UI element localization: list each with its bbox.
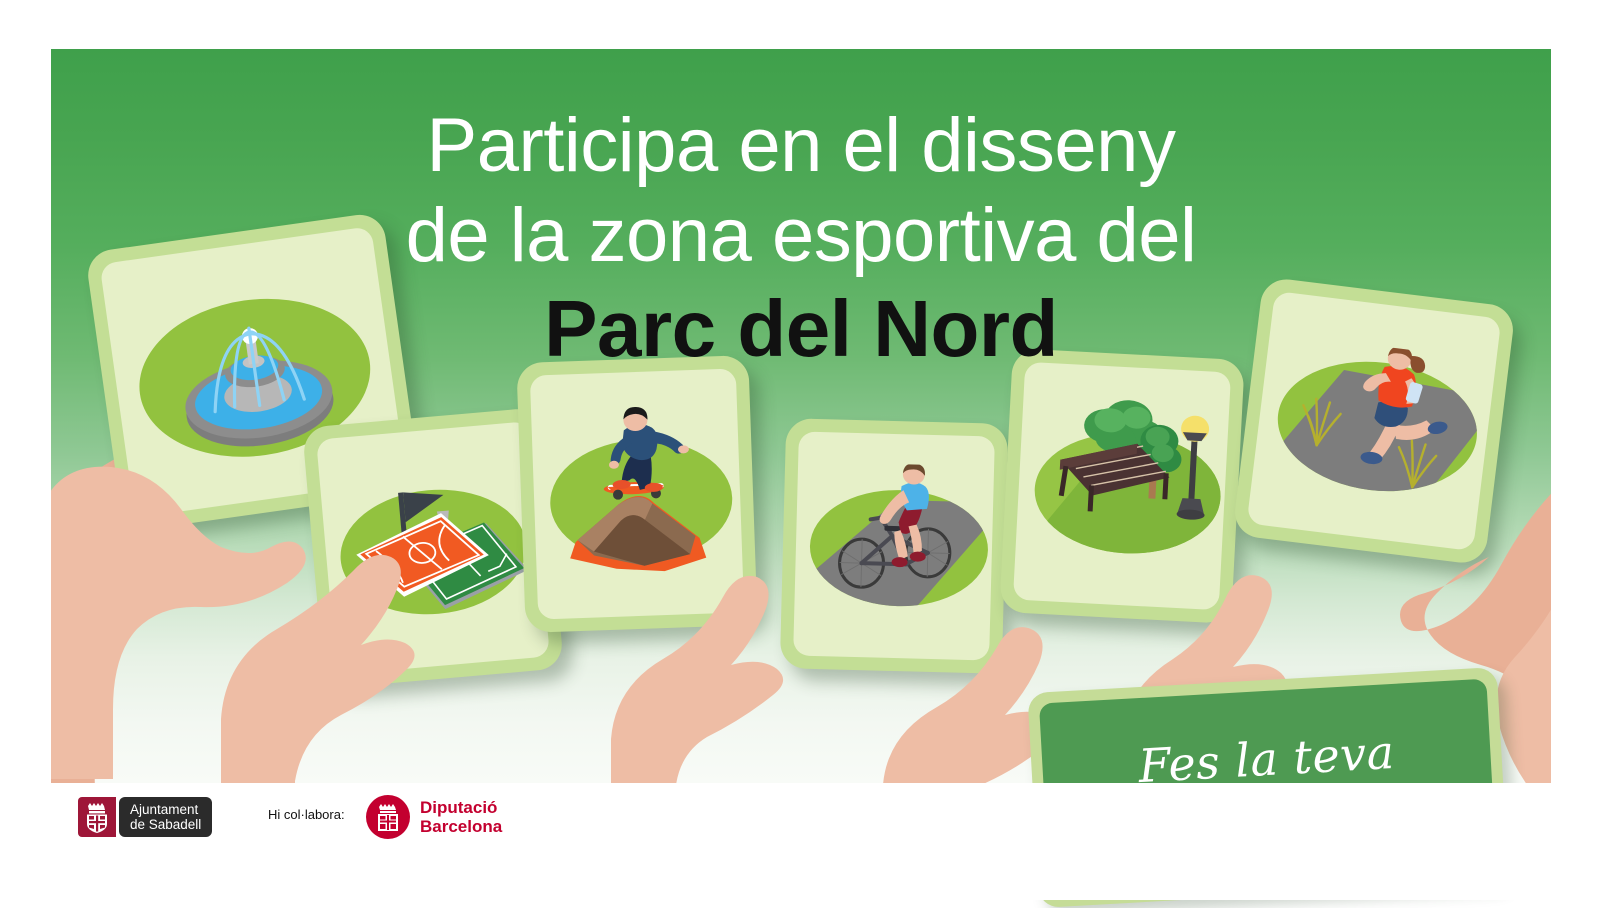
footer-logos: Ajuntament de Sabadell Hi col·labora: xyxy=(0,783,1600,900)
hand-pointing-card-sports xyxy=(191,519,491,783)
diputacio-crest-icon xyxy=(366,795,410,839)
green-banner-panel: Participa en el disseny de la zona espor… xyxy=(51,49,1551,783)
ajuntament-name-panel: Ajuntament de Sabadell xyxy=(119,797,212,837)
poster-canvas: Participa en el disseny de la zona espor… xyxy=(0,0,1600,900)
collaborates-label: Hi col·labora: xyxy=(268,807,345,822)
diputacio-line-2: Barcelona xyxy=(420,817,502,836)
ajuntament-sabadell-logo[interactable]: Ajuntament de Sabadell xyxy=(78,797,212,837)
sabadell-crest-icon xyxy=(78,797,116,837)
diputacio-name: Diputació Barcelona xyxy=(420,798,502,836)
ajuntament-line-2: de Sabadell xyxy=(130,817,201,833)
diputacio-barcelona-logo[interactable]: Diputació Barcelona xyxy=(366,795,502,839)
diputacio-line-1: Diputació xyxy=(420,798,502,817)
headline-line-1: Participa en el disseny xyxy=(51,101,1551,191)
park-bench-icon xyxy=(1033,379,1224,564)
ajuntament-line-1: Ajuntament xyxy=(130,802,201,818)
hand-pointing-card-skate xyxy=(571,529,861,783)
